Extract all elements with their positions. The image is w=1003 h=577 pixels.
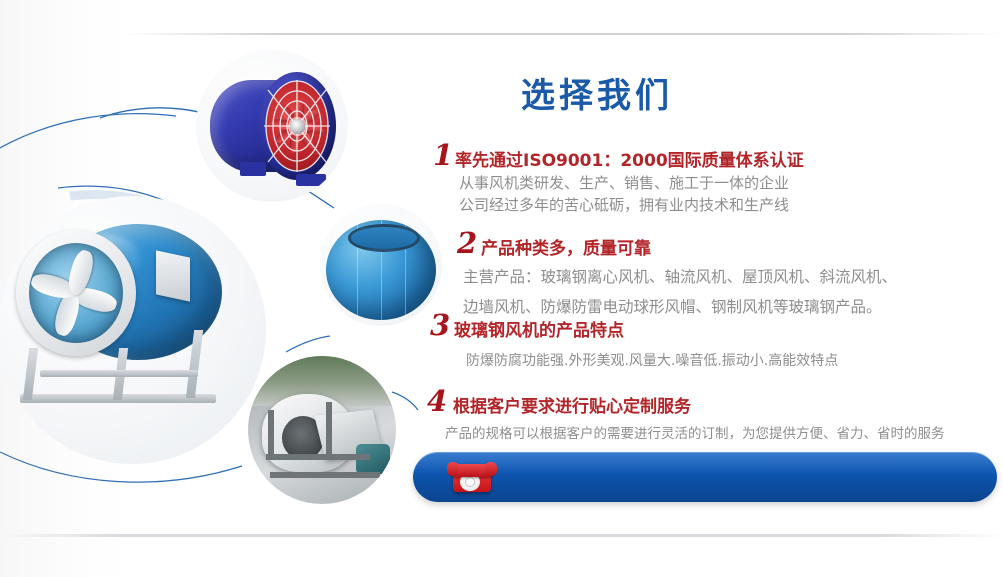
page-title: 选择我们 [521,68,673,117]
product-photo-axial-duct-fan [196,50,348,202]
product-photo-frp-axial-fan [0,196,266,464]
feature-heading-3: 玻璃钢风机的产品特点 [454,316,624,341]
product-photo-spherical-roof-cap [320,204,442,326]
feature-item-3: 3 玻璃钢风机的产品特点 防爆防腐功能强.外形美观.风量大.噪音低.振动小.高能… [430,310,930,380]
product-photo-centrifugal-fan [248,356,396,504]
feature-heading-2: 产品种类多，质量可靠 [481,234,651,259]
feature-number-2: 2 [457,226,477,260]
fan-stand [20,348,226,420]
feature-desc-4-line-1: 产品的规格可以根据客户的需要进行灵活的订制，为您提供方便、省力、省时的服务 [445,422,945,442]
feature-desc-2-line-1: 主营产品：玻璃钢离心风机、轴流风机、屋顶风机、斜流风机、 [463,265,897,287]
feature-item-1: 1 率先通过ISO9001：2000国际质量体系认证 从事风机类研发、生产、销售… [433,140,993,220]
feature-number-1: 1 [433,138,453,172]
inlet-flange [16,230,136,356]
fan-hub [290,119,305,134]
sphere-body [326,220,436,320]
feature-desc-3-line-1: 防爆防腐功能强.外形美观.风量大.噪音低.振动小.高能效特点 [466,350,838,370]
sphere-collar [348,224,420,252]
fan-blades [29,243,123,343]
feature-number-4: 4 [427,384,447,418]
feature-heading-4: 根据客户要求进行贴心定制服务 [453,392,691,417]
feature-item-2: 2 产品种类多，质量可靠 主营产品：玻璃钢离心风机、轴流风机、屋顶风机、斜流风机… [457,228,997,318]
fan-face [258,72,336,180]
promo-banner: 选择我们 1 率先通过ISO9001：2000国际质量体系认证 从事风机类研发、… [0,0,1003,577]
junction-box [156,250,190,301]
feature-heading-1: 率先通过ISO9001：2000国际质量体系认证 [455,146,804,171]
feature-desc-1-line-1: 从事风机类研发、生产、销售、施工于一体的企业 [459,172,789,193]
contact-bar[interactable] [413,452,997,502]
feature-item-4: 4 根据客户要求进行贴心定制服务 产品的规格可以根据客户的需要进行灵活的订制，为… [427,386,997,446]
feature-number-3: 3 [430,308,450,342]
feature-desc-1-line-2: 公司经过多年的苦心砥砺，拥有业内技术和生产线 [459,194,789,215]
bar-gloss [413,452,997,475]
telephone-icon [449,458,495,496]
